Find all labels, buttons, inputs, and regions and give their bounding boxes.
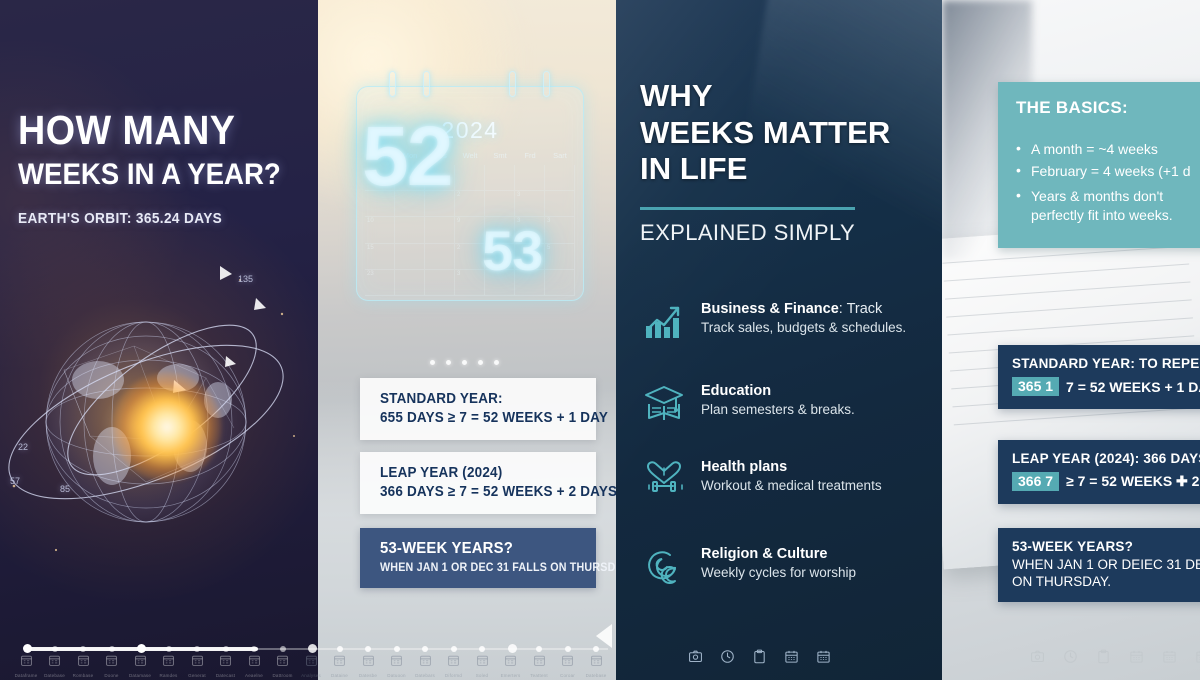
card-leap-year-summary: LEAP YEAR (2024): 366 DAYS 366 7 ≥ 7 = 5…	[998, 440, 1200, 504]
feature-title-rest: : Track	[839, 301, 883, 317]
calendar-ring-4	[543, 71, 550, 97]
feature-text: Religion & Culture Weekly cycles for wor…	[701, 545, 856, 582]
list-item: A month = ~4 weeks	[1016, 140, 1200, 158]
timeline-node[interactable]	[479, 646, 485, 652]
calendar-cell[interactable]: 2	[455, 244, 485, 270]
camera-icon[interactable]	[1030, 649, 1045, 664]
card-leap-year: LEAP YEAR (2024) 366 DAYS ≥ 7 = 52 WEEKS…	[360, 452, 596, 514]
card-detail-rest: ≥ 7 = 52 WEEKS ✚ 2 D	[1066, 473, 1200, 490]
calendar-cell[interactable]	[425, 217, 455, 243]
carousel-dot[interactable]	[478, 360, 483, 365]
panel1-heading-block: HOW MANY WEEKS IN A YEAR? EARTH'S ORBIT:…	[18, 110, 308, 227]
panel3-subtitle: EXPLAINED SIMPLY	[640, 220, 855, 246]
calendar-cell[interactable]	[515, 165, 545, 191]
timeline-node[interactable]	[308, 644, 317, 653]
feature-title: Business & Finance: Track	[701, 300, 906, 318]
carousel-dots[interactable]	[430, 360, 499, 365]
timeline-node[interactable]	[565, 646, 571, 652]
timeline-node[interactable]	[365, 646, 371, 652]
calendar-icon[interactable]	[784, 649, 799, 664]
panel3-toolbar[interactable]	[688, 649, 831, 664]
panel3-title-line1: WHY	[640, 78, 940, 115]
timeline-scrubber[interactable]: DataframeDatebaseRombaseDooneDatamaseRam…	[0, 630, 616, 680]
timeline-node[interactable]	[80, 646, 86, 652]
calendar-day-header: Frd	[515, 151, 545, 160]
feature-business-finance: Business & Finance: Track Track sales, b…	[642, 300, 942, 342]
timeline-item[interactable]: Datebase	[574, 654, 618, 678]
timeline-node[interactable]	[422, 646, 428, 652]
card-title: STANDARD YEAR: TO REPEME	[1012, 356, 1200, 371]
card-detail-line3: ON THURSDAY.	[1012, 574, 1200, 589]
card-title: LEAP YEAR (2024): 366 DAYS	[1012, 451, 1200, 466]
feature-desc: Plan semesters & breaks.	[701, 402, 855, 419]
card-detail: 655 DAYS ≥ 7 = 52 WEEKS + 1 DAY	[380, 410, 566, 426]
timeline-node[interactable]	[223, 646, 229, 652]
graduation-cap-icon	[642, 382, 686, 424]
calendar-cell[interactable]	[395, 270, 425, 296]
calendar-month-icon[interactable]	[1195, 649, 1200, 664]
notebook-line	[947, 317, 1192, 335]
notebook-line	[944, 264, 1189, 282]
panel3-title: WHY WEEKS MATTER IN LIFE	[640, 78, 940, 188]
highlight-chip: 365 1	[1012, 377, 1059, 396]
panel-how-many-weeks: HOW MANY WEEKS IN A YEAR? EARTH'S ORBIT:…	[0, 0, 318, 680]
card-detail: 366 DAYS ≥ 7 = 52 WEEKS + 2 DAYS	[380, 484, 566, 500]
list-item: February = 4 weeks (+1 d	[1016, 162, 1200, 180]
globe-illustration: 135 22 57 85	[0, 250, 318, 580]
feature-title-bold: Health plans	[701, 459, 787, 475]
orbit-label-3: 85	[60, 484, 70, 494]
timeline-node[interactable]	[137, 644, 146, 653]
carousel-dot[interactable]	[430, 360, 435, 365]
card-53-week-years-summary: 53-WEEK YEARS? WHEN JAN 1 OR DEIEC 31 DE…	[998, 528, 1200, 602]
calendar-icon[interactable]	[1129, 649, 1144, 664]
calendar-cell[interactable]: 9	[455, 217, 485, 243]
feature-title: Health plans	[701, 458, 882, 476]
calendar-cell[interactable]: 10	[365, 217, 395, 243]
timeline-node[interactable]	[337, 646, 343, 652]
timeline-node[interactable]	[536, 646, 542, 652]
orbit-label-1: 22	[18, 442, 28, 452]
card-53-week-years: 53-WEEK YEARS? WHEN JAN 1 OR DEC 31 FALL…	[360, 528, 596, 588]
card-detail: WHEN JAN 1 OR DEC 31 FALLS ON THURSDAY	[380, 562, 566, 574]
weeks-count-secondary: 53	[482, 218, 542, 283]
clipboard-icon[interactable]	[1096, 649, 1111, 664]
carousel-dot[interactable]	[494, 360, 499, 365]
card-the-basics: THE BASICS: A month = ~4 weeks February …	[998, 82, 1200, 248]
calendar-alt-icon[interactable]	[816, 649, 831, 664]
calendar-cell[interactable]	[425, 244, 455, 270]
calendar-cell[interactable]: 3	[515, 191, 545, 217]
timeline-node[interactable]	[593, 646, 599, 652]
timeline-node[interactable]	[280, 646, 286, 652]
orbit-label-2: 57	[10, 476, 20, 486]
page-subtitle: EARTH'S ORBIT: 365.24 DAYS	[18, 211, 291, 227]
feature-title: Religion & Culture	[701, 545, 856, 563]
basics-heading: THE BASICS:	[1016, 98, 1200, 118]
calendar-cell[interactable]: 5	[545, 244, 575, 270]
timeline-node[interactable]	[52, 646, 58, 652]
title-divider	[640, 207, 855, 210]
highlight-chip: 366 7	[1012, 472, 1059, 491]
calendar-day-header: Smt	[485, 151, 515, 160]
notebook-line	[945, 281, 1190, 299]
timeline-node[interactable]	[166, 646, 172, 652]
calendar-cell[interactable]	[545, 165, 575, 191]
feature-text: Education Plan semesters & breaks.	[701, 382, 855, 419]
feature-religion-culture: Religion & Culture Weekly cycles for wor…	[642, 545, 942, 587]
timeline-node[interactable]	[394, 646, 400, 652]
calendar-cell[interactable]	[395, 244, 425, 270]
feature-title: Education	[701, 382, 855, 400]
bar-chart-growth-icon	[642, 300, 686, 342]
weeks-count-primary: 52	[362, 108, 451, 205]
timeline-node[interactable]	[109, 646, 115, 652]
calendar-day-header: Welt	[455, 151, 485, 160]
calendar-day-header: Sart	[545, 151, 575, 160]
feature-text: Health plans Workout & medical treatment…	[701, 458, 882, 495]
page-title-line2: WEEKS IN A YEAR?	[18, 159, 285, 191]
calendar-ring-3	[509, 71, 516, 97]
clock-icon[interactable]	[720, 649, 735, 664]
timeline-item-label: Datebase	[574, 673, 618, 678]
list-item: Years & months don't perfectly fit into …	[1016, 187, 1200, 223]
card-detail: 366 7 ≥ 7 = 52 WEEKS ✚ 2 D	[1012, 472, 1200, 491]
panel3-title-line3: IN LIFE	[640, 151, 940, 188]
calendar-cell[interactable]: 15	[365, 244, 395, 270]
card-standard-year: STANDARD YEAR: 655 DAYS ≥ 7 = 52 WEEKS +…	[360, 378, 596, 440]
calendar-cell[interactable]: 3	[455, 270, 485, 296]
card-detail: 365 1 7 = 52 WEEKS + 1 DA	[1012, 377, 1200, 396]
feature-desc: Weekly cycles for worship	[701, 565, 856, 582]
card-title: LEAP YEAR (2024)	[380, 465, 566, 481]
feature-title-bold: Religion & Culture	[701, 546, 827, 562]
calendar-alt-icon[interactable]	[1162, 649, 1177, 664]
calendar-cell[interactable]	[545, 270, 575, 296]
camera-icon[interactable]	[688, 649, 703, 664]
timeline-node[interactable]	[23, 644, 32, 653]
panel3-title-line2: WEEKS MATTER	[640, 115, 940, 152]
calendar-cell[interactable]	[455, 165, 485, 191]
card-title: 53-WEEK YEARS?	[380, 540, 566, 558]
panel-calendar-facts: 2024 Sunn Mon Tios Welt Smt Frd Sart 231…	[318, 0, 616, 680]
orbit-label-0: 135	[238, 274, 253, 284]
card-detail-line2: WHEN JAN 1 OR DEIEC 31 DE2	[1012, 557, 1200, 572]
feature-text: Business & Finance: Track Track sales, b…	[701, 300, 906, 337]
card-title: 53-WEEK YEARS?	[1012, 539, 1200, 554]
spiral-crescent-icon	[642, 545, 686, 587]
card-title: STANDARD YEAR:	[380, 391, 566, 407]
sun-glow	[112, 372, 222, 482]
feature-desc: Track sales, budgets & schedules.	[701, 320, 906, 337]
calendar-cell[interactable]: 2	[455, 191, 485, 217]
panel4-toolbar[interactable]	[1030, 649, 1200, 664]
timeline-node[interactable]	[451, 646, 457, 652]
clipboard-icon[interactable]	[752, 649, 767, 664]
notebook-lines	[942, 246, 1200, 443]
feature-education: Education Plan semesters & breaks.	[642, 382, 942, 424]
calendar-ring-1	[389, 71, 396, 97]
feature-title-bold: Education	[701, 383, 771, 399]
feature-title-bold: Business & Finance	[701, 301, 839, 317]
panel-why-weeks-matter: WHY WEEKS MATTER IN LIFE EXPLAINED SIMPL…	[616, 0, 942, 680]
notebook-line	[946, 299, 1191, 317]
card-detail-rest: 7 = 52 WEEKS + 1 DA	[1066, 379, 1200, 395]
timeline-node[interactable]	[194, 646, 200, 652]
calendar-cell[interactable]	[485, 191, 515, 217]
calendar-ring-2	[423, 71, 430, 97]
notebook-line	[954, 407, 1199, 425]
basics-list: A month = ~4 weeks February = 4 weeks (+…	[1016, 140, 1200, 224]
calendar-cell[interactable]	[395, 217, 425, 243]
carousel-dot[interactable]	[446, 360, 451, 365]
page-title-line1: HOW MANY	[18, 110, 285, 151]
infographic-carousel: HOW MANY WEEKS IN A YEAR? EARTH'S ORBIT:…	[0, 0, 1200, 680]
calendar-cell[interactable]: 23	[365, 270, 395, 296]
timeline-item-icon[interactable]	[574, 654, 618, 672]
timeline-node[interactable]	[251, 646, 257, 652]
feature-desc: Workout & medical treatments	[701, 478, 882, 495]
calendar-cell[interactable]	[545, 191, 575, 217]
clock-icon[interactable]	[1063, 649, 1078, 664]
heart-dumbbell-icon	[642, 458, 686, 500]
timeline-node[interactable]	[508, 644, 517, 653]
calendar-cell[interactable]: 3	[545, 217, 575, 243]
card-standard-year-summary: STANDARD YEAR: TO REPEME 365 1 7 = 52 WE…	[998, 345, 1200, 409]
calendar-cell[interactable]	[425, 270, 455, 296]
carousel-dot[interactable]	[462, 360, 467, 365]
panel-the-basics: THE BASICS: A month = ~4 weeks February …	[942, 0, 1200, 680]
calendar-cell[interactable]	[485, 165, 515, 191]
feature-health-plans: Health plans Workout & medical treatment…	[642, 458, 942, 500]
